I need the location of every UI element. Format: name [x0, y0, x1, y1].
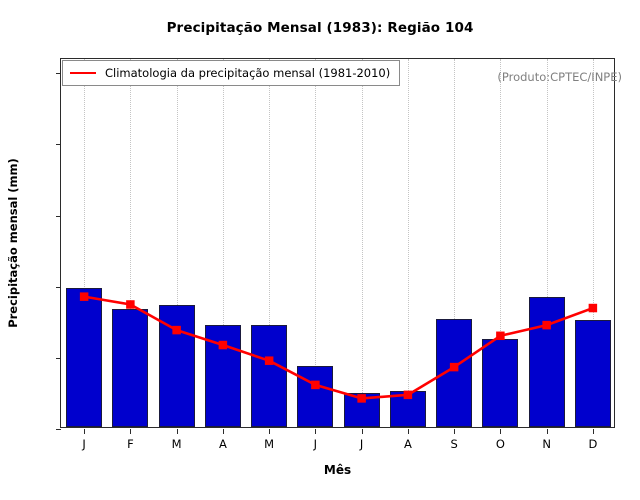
x-tick-mark	[177, 429, 178, 434]
x-tick-mark	[130, 429, 131, 434]
data-point-marker	[450, 363, 459, 372]
chart-title: Precipitação Mensal (1983): Região 104	[0, 20, 640, 36]
x-tick-mark	[223, 429, 224, 434]
data-point-marker	[311, 381, 320, 390]
x-tick-label: J	[69, 437, 99, 451]
data-point-marker	[219, 341, 228, 350]
data-point-marker	[357, 394, 366, 403]
climatology-markers	[80, 292, 597, 402]
chart-legend: Climatologia da precipitação mensal (198…	[62, 60, 400, 86]
x-tick-label: S	[439, 437, 469, 451]
x-tick-mark	[84, 429, 85, 434]
x-tick-mark	[454, 429, 455, 434]
climatology-polyline	[84, 297, 593, 399]
climatology-line-series	[61, 59, 616, 429]
data-point-marker	[126, 300, 135, 309]
plot-area: 0100200300400500 JFMAMJJASOND	[60, 58, 615, 428]
x-tick-mark	[269, 429, 270, 434]
y-tick-mark	[56, 287, 61, 288]
x-tick-label: D	[578, 437, 608, 451]
x-tick-label: A	[208, 437, 238, 451]
source-annotation: (Produto:CPTEC/INPE)	[497, 70, 622, 84]
x-tick-label: J	[300, 437, 330, 451]
x-tick-label: M	[254, 437, 284, 451]
x-tick-label: M	[162, 437, 192, 451]
y-tick-mark	[56, 358, 61, 359]
x-tick-mark	[408, 429, 409, 434]
x-tick-mark	[500, 429, 501, 434]
data-point-marker	[265, 356, 274, 365]
data-point-marker	[404, 391, 413, 400]
y-axis-label: Precipitação mensal (mm)	[4, 58, 22, 428]
y-tick-mark	[56, 144, 61, 145]
legend-label: Climatologia da precipitação mensal (198…	[105, 66, 390, 80]
x-tick-label: O	[485, 437, 515, 451]
y-tick-mark	[56, 73, 61, 74]
data-point-marker	[589, 304, 598, 313]
x-tick-label: F	[115, 437, 145, 451]
chart-figure: Precipitação Mensal (1983): Região 104 P…	[0, 0, 640, 500]
x-tick-mark	[593, 429, 594, 434]
plot-inner	[61, 59, 614, 427]
y-tick-mark	[56, 216, 61, 217]
x-tick-mark	[362, 429, 363, 434]
y-axis-label-text: Precipitação mensal (mm)	[6, 158, 20, 328]
data-point-marker	[496, 332, 505, 341]
data-point-marker	[80, 292, 89, 301]
data-point-marker	[172, 326, 181, 335]
x-tick-label: N	[532, 437, 562, 451]
x-axis-label: Mês	[60, 463, 615, 477]
x-tick-mark	[547, 429, 548, 434]
y-tick-mark	[56, 429, 61, 430]
x-tick-mark	[315, 429, 316, 434]
x-tick-label: A	[393, 437, 423, 451]
data-point-marker	[542, 321, 551, 330]
x-tick-label: J	[347, 437, 377, 451]
legend-line-swatch	[70, 72, 96, 74]
